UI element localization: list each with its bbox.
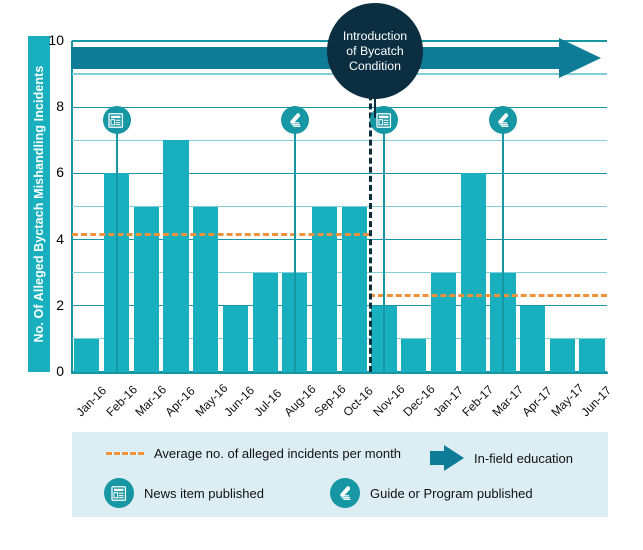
bar: [342, 207, 367, 373]
bar: [579, 339, 604, 372]
bar: [550, 339, 575, 372]
y-tick-label: 4: [38, 231, 64, 247]
callout-line-3: Condition: [343, 59, 407, 73]
legend-item-average[interactable]: Average no. of alleged incidents per mon…: [106, 446, 401, 461]
average-line-segment: [369, 294, 607, 297]
bar: [253, 273, 278, 372]
chart-root: No. Of Alleged Byctach Mishandling Incid…: [0, 0, 643, 550]
y-axis-title: No. Of Alleged Byctach Mishandling Incid…: [28, 36, 50, 372]
plot-area: [72, 41, 607, 372]
callout-stem: [374, 96, 376, 118]
introduction-callout: Introductionof BycatchCondition: [327, 3, 423, 99]
guide-icon[interactable]: [489, 106, 517, 134]
x-axis-labels: Jan-16Feb-16Mar-16Apr-16May-16Jun-16Jul-…: [72, 374, 607, 430]
guide-icon[interactable]: [281, 106, 309, 134]
guide-icon: [330, 478, 360, 508]
legend-label-news: News item published: [144, 486, 264, 501]
y-tick-label: 10: [38, 32, 64, 48]
x-tick-label: Apr-16: [162, 384, 197, 419]
x-tick-label: May-17: [549, 381, 587, 419]
bar: [461, 173, 486, 372]
x-tick-label: Feb-16: [103, 382, 140, 419]
marker-stem: [294, 120, 296, 372]
arrow-icon: [430, 445, 464, 471]
x-tick-label: Jan-16: [73, 383, 109, 419]
bar: [401, 339, 426, 372]
x-tick-label: Mar-16: [133, 382, 170, 419]
marker-stem: [116, 120, 118, 372]
band-shaft: [71, 47, 563, 69]
news-icon: [104, 478, 134, 508]
legend-item-infield[interactable]: In-field education: [430, 445, 573, 471]
y-tick-label: 6: [38, 164, 64, 180]
marker-stem: [383, 120, 385, 372]
y-tick-label: 8: [38, 98, 64, 114]
bar: [223, 306, 248, 372]
y-tick-label: 0: [38, 363, 64, 379]
x-tick-label: Apr-17: [519, 384, 554, 419]
x-tick-label: Feb-17: [460, 382, 497, 419]
bar-series: [72, 41, 607, 372]
dashed-line-icon: [106, 452, 144, 455]
bar: [74, 339, 99, 372]
bar: [134, 207, 159, 373]
callout-text: Introductionof BycatchCondition: [331, 29, 419, 74]
y-tick-label: 2: [38, 297, 64, 313]
news-icon[interactable]: [103, 106, 131, 134]
legend: Average no. of alleged incidents per mon…: [72, 432, 608, 517]
marker-stem: [502, 120, 504, 372]
legend-label-infield: In-field education: [474, 451, 573, 466]
x-tick-label: Dec-16: [400, 382, 437, 419]
x-tick-label: Nov-16: [370, 382, 407, 419]
bar: [520, 306, 545, 372]
x-tick-label: Aug-16: [281, 382, 318, 419]
band-arrowhead-icon: [559, 38, 601, 78]
callout-line-1: Introduction: [337, 29, 413, 43]
x-tick-label: Mar-17: [489, 382, 526, 419]
legend-item-news[interactable]: News item published: [104, 478, 264, 508]
bar: [163, 140, 188, 372]
bar: [193, 207, 218, 373]
bar: [431, 273, 456, 372]
legend-label-guide: Guide or Program published: [370, 486, 533, 501]
x-tick-label: Sep-16: [311, 382, 348, 419]
callout-line-2: of Bycatch: [340, 44, 409, 58]
legend-item-guide[interactable]: Guide or Program published: [330, 478, 533, 508]
bar: [312, 207, 337, 373]
legend-label-average: Average no. of alleged incidents per mon…: [154, 446, 401, 461]
